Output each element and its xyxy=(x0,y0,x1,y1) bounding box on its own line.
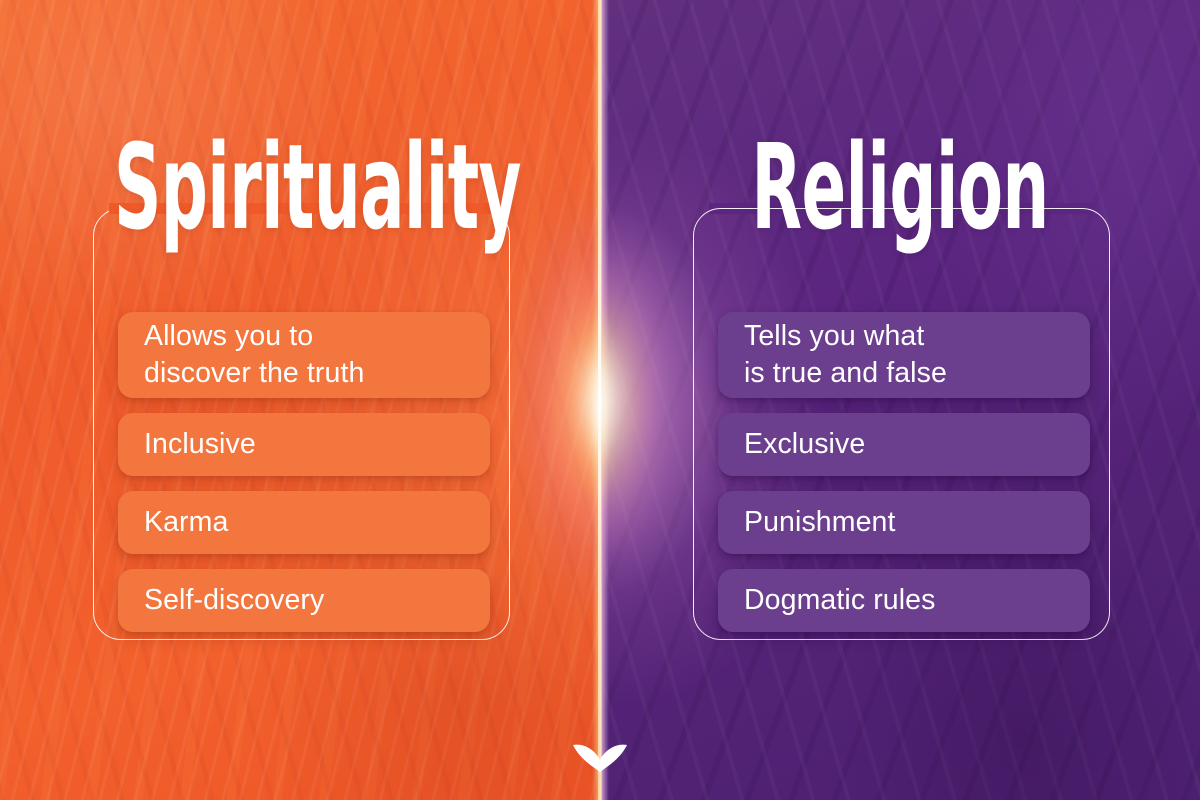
list-item[interactable]: Punishment xyxy=(718,491,1090,554)
list-item[interactable]: Inclusive xyxy=(118,413,490,476)
list-item-label: Allows you to discover the truth xyxy=(144,318,364,392)
list-item-label: Karma xyxy=(144,504,228,541)
list-item-label: Dogmatic rules xyxy=(744,582,935,619)
right-panel-title: Religion xyxy=(714,128,1086,246)
infographic-canvas: Allows you to discover the truth Inclusi… xyxy=(0,0,1200,800)
list-item[interactable]: Karma xyxy=(118,491,490,554)
leaf-sprout-logo xyxy=(570,726,630,774)
list-item[interactable]: Dogmatic rules xyxy=(718,569,1090,632)
list-item-label: Inclusive xyxy=(144,426,256,463)
left-panel-title: Spirituality xyxy=(114,128,486,246)
list-item-label: Punishment xyxy=(744,504,896,541)
list-item[interactable]: Exclusive xyxy=(718,413,1090,476)
list-item[interactable]: Allows you to discover the truth xyxy=(118,312,490,398)
list-item-label: Tells you what is true and false xyxy=(744,318,947,392)
list-item-label: Exclusive xyxy=(744,426,865,463)
left-panel-card-list: Allows you to discover the truth Inclusi… xyxy=(118,312,490,647)
list-item[interactable]: Tells you what is true and false xyxy=(718,312,1090,398)
list-item[interactable]: Self-discovery xyxy=(118,569,490,632)
list-item-label: Self-discovery xyxy=(144,582,324,619)
right-panel-card-list: Tells you what is true and false Exclusi… xyxy=(718,312,1090,647)
